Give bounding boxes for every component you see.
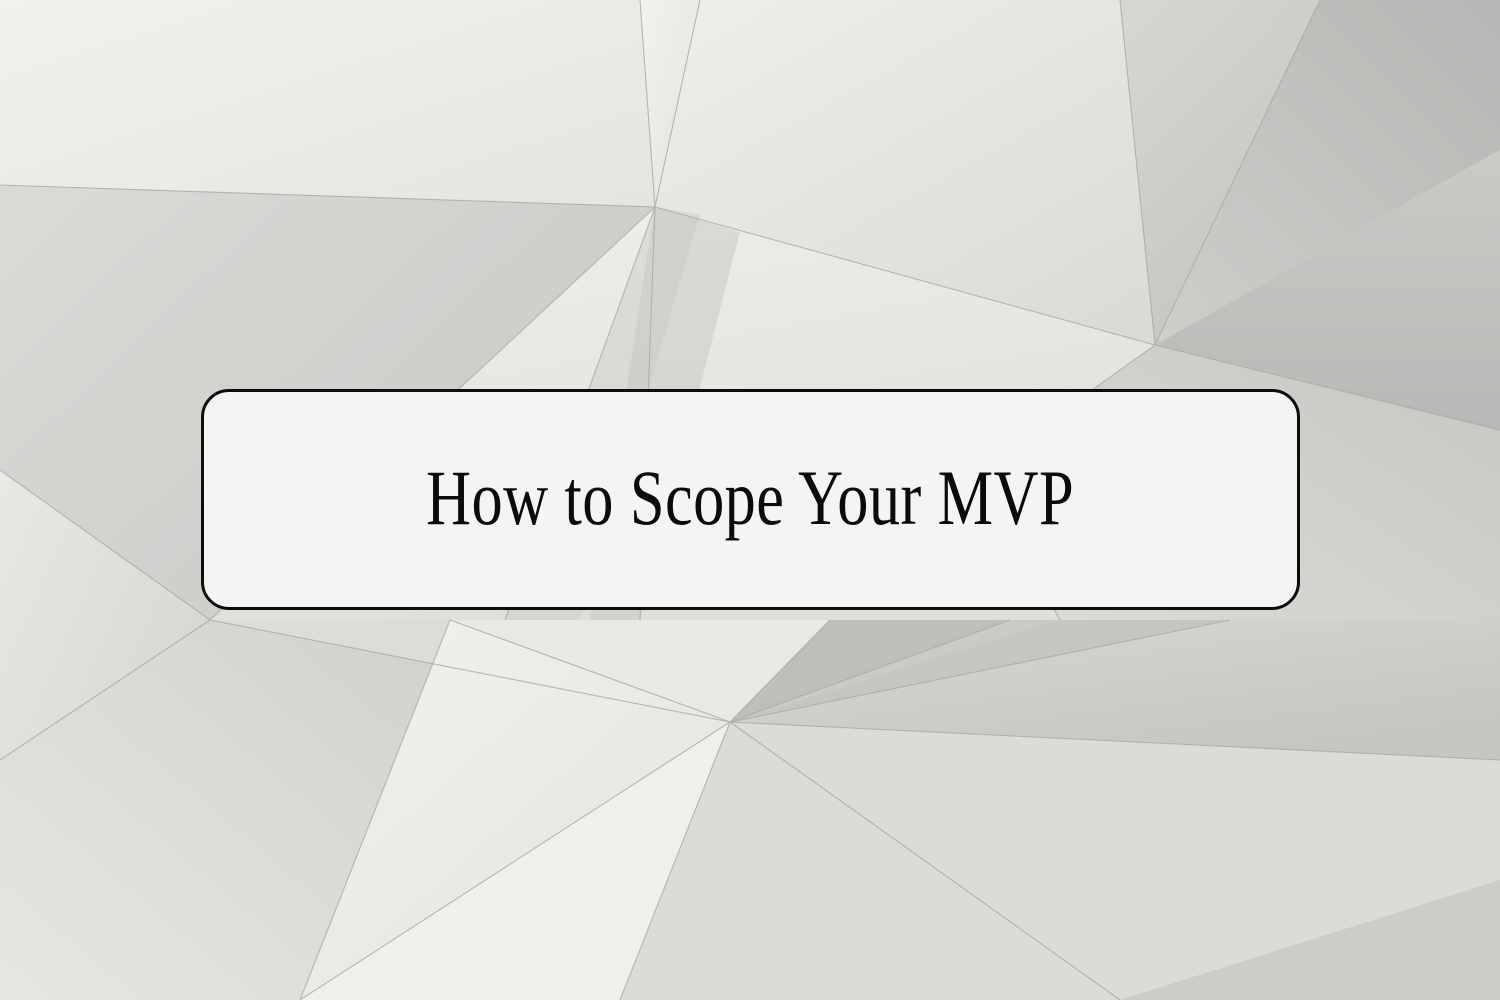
title-card: How to Scope Your MVP [201, 389, 1300, 610]
poster-canvas: How to Scope Your MVP [0, 0, 1500, 1000]
facet-top-left-pale [0, 0, 655, 207]
page-title: How to Scope Your MVP [412, 458, 1089, 538]
